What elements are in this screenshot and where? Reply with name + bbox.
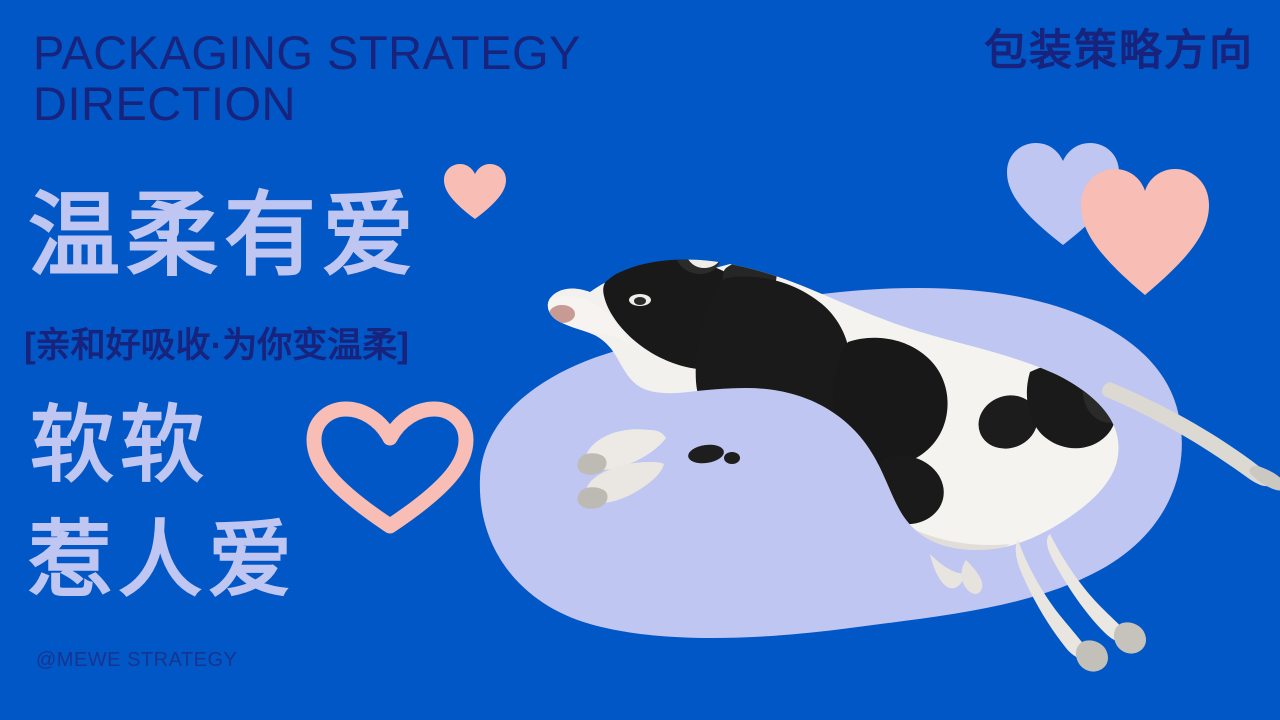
- kicker-line-2: 惹人爱: [28, 518, 298, 602]
- heart-pair-icon: [995, 135, 1225, 295]
- brand-handle: @MEWE STRATEGY: [36, 650, 237, 670]
- chinese-corner-title: 包装策略方向: [984, 30, 1254, 73]
- heart-front-icon: [1081, 169, 1209, 295]
- heart-outline-icon: [300, 398, 480, 538]
- heart-icon: [443, 163, 507, 221]
- headline: 温柔有爱: [28, 190, 420, 282]
- page-title: PACKAGING STRATEGY DIRECTION: [33, 28, 653, 130]
- subtitle: [亲和好吸收·为你变温柔]: [24, 328, 409, 363]
- poster-canvas: PACKAGING STRATEGY DIRECTION 包装策略方向 温柔有爱…: [0, 0, 1280, 720]
- kicker-line-1: 软软: [30, 403, 210, 487]
